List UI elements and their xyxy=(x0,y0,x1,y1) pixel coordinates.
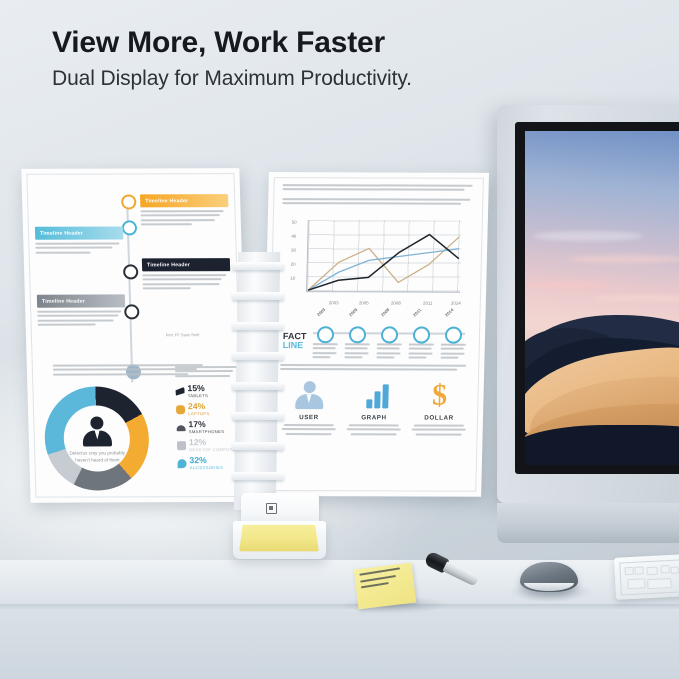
fact-line-section: FACT LINE 2003 2005 2008 xyxy=(282,314,467,371)
timeline-card-1: Timeline Header xyxy=(35,226,124,255)
fact-line-caption xyxy=(312,343,338,361)
headline-title: View More, Work Faster xyxy=(52,26,572,60)
document-page-right: 50 40 30 20 10 2003 2005 2008 2011 2014 xyxy=(261,172,489,497)
stat-label: SMARTPHONES xyxy=(189,429,225,435)
stat-value: 15% xyxy=(187,384,208,393)
graph-icon xyxy=(359,380,390,410)
stat-row: 17% SMARTPHONES xyxy=(176,420,242,434)
feature-trio: USER GRAPH xyxy=(280,380,470,381)
fact-line-node xyxy=(349,326,366,343)
y-tick: 40 xyxy=(291,234,296,239)
stat-label: ACCESSORIES xyxy=(190,465,224,471)
donut-center-caption: Delectus cray you probably haven't heard… xyxy=(64,451,130,465)
computer-keyboard xyxy=(614,554,679,600)
stand-fin xyxy=(232,352,284,360)
y-tick: 10 xyxy=(290,276,295,281)
fact-line-caption xyxy=(344,343,370,361)
fact-line-node xyxy=(445,327,462,344)
feature-name: DOLLAR xyxy=(409,414,469,421)
donut-side-paragraph xyxy=(175,366,237,379)
stand-fin xyxy=(232,382,284,390)
logo-mark-icon xyxy=(266,503,277,514)
fact-line-footer-paragraph xyxy=(280,364,468,373)
stat-value: 24% xyxy=(188,402,210,411)
feature-body xyxy=(409,424,469,435)
sticky-note-pad xyxy=(239,525,319,551)
stand-fin xyxy=(232,292,284,300)
brand-logo xyxy=(266,502,312,514)
fact-line-title-bottom: LINE xyxy=(283,340,304,350)
stand-fin xyxy=(232,442,284,450)
x-tick: 2014 xyxy=(451,301,461,306)
cloud xyxy=(567,255,679,263)
fact-line-caption xyxy=(408,344,434,362)
y-tick: 30 xyxy=(291,248,296,253)
stand-fin xyxy=(232,472,284,480)
dollar-icon: $ xyxy=(424,381,455,411)
stat-value: 17% xyxy=(188,420,224,429)
headline-block: View More, Work Faster Dual Display for … xyxy=(52,26,572,91)
x-tick: 2011 xyxy=(423,301,433,306)
timeline-card-header: Timeline Header xyxy=(35,226,123,239)
timeline-card-header: Timeline Header xyxy=(142,258,230,271)
timeline-card-3: Timeline Header xyxy=(37,294,126,328)
stat-label: TABLETS xyxy=(188,393,209,399)
document-page-left: Timeline Header Timeline Header Timeline… xyxy=(21,168,248,503)
timeline-card-2: Timeline Header xyxy=(140,194,229,228)
feature-body xyxy=(344,424,404,435)
x-tick: 2005 xyxy=(359,300,369,305)
feature-user: USER xyxy=(279,380,340,435)
monitor-bezel xyxy=(515,122,679,474)
feature-dollar: $ DOLLAR xyxy=(409,380,470,435)
laptop-icon xyxy=(176,405,185,414)
monitor-chin xyxy=(497,503,679,543)
timeline-card-body xyxy=(37,310,125,325)
feature-name: USER xyxy=(279,414,339,421)
keyboard-frame xyxy=(619,559,679,595)
feature-name: GRAPH xyxy=(344,414,404,421)
fact-line-node xyxy=(413,327,430,344)
stand-fin xyxy=(232,412,284,420)
timeline-card-body xyxy=(142,274,230,289)
timeline-node xyxy=(121,194,136,209)
user-icon xyxy=(294,380,325,410)
cloud xyxy=(525,281,611,288)
handwritten-sticky-note xyxy=(354,563,416,610)
timeline-node xyxy=(123,264,138,279)
fact-line-node xyxy=(317,326,334,343)
font-note: font: FF Sans Serif xyxy=(166,332,200,337)
fact-line-caption xyxy=(376,343,402,361)
desk-front-panel xyxy=(0,611,679,679)
timeline-node xyxy=(122,220,137,235)
timeline-card-body xyxy=(140,210,228,225)
y-tick: 50 xyxy=(292,220,297,225)
document-stand-base xyxy=(233,493,326,565)
smartphone-icon xyxy=(176,425,185,431)
product-marketing-image: View More, Work Faster Dual Display for … xyxy=(0,0,679,679)
headline-subtitle: Dual Display for Maximum Productivity. xyxy=(52,67,572,91)
donut-chart: Delectus cray you probably haven't heard… xyxy=(43,386,150,490)
chart-series-lines xyxy=(306,220,464,293)
series-black-line xyxy=(308,234,459,291)
timeline-card-body xyxy=(35,242,123,253)
intro-paragraph-2 xyxy=(282,198,474,207)
feature-graph: GRAPH xyxy=(344,380,405,435)
stat-value: 32% xyxy=(189,456,223,465)
line-chart: 50 40 30 20 10 2003 2005 2008 2011 2014 xyxy=(290,218,464,307)
y-tick: 20 xyxy=(291,262,296,267)
person-icon xyxy=(82,416,111,446)
accessories-icon xyxy=(177,459,186,468)
desktop-icon xyxy=(177,441,186,450)
x-tick: 2003 xyxy=(329,300,339,305)
tablet-icon xyxy=(175,387,184,396)
feature-body xyxy=(279,424,339,435)
timeline-node xyxy=(124,304,139,319)
x-tick: 2008 xyxy=(391,300,401,305)
fact-line-caption xyxy=(440,344,466,362)
computer-monitor xyxy=(497,105,679,535)
monitor-screen xyxy=(525,131,679,465)
timeline-card-header: Timeline Header xyxy=(140,194,228,207)
timeline-card-4: Timeline Header xyxy=(142,258,231,292)
wallpaper-dune-shadow xyxy=(525,425,679,465)
intro-paragraph xyxy=(282,184,474,193)
timeline-card-header: Timeline Header xyxy=(37,294,125,307)
stat-label: LAPTOPS xyxy=(188,411,210,417)
fact-line-title: FACT LINE xyxy=(283,332,307,350)
stand-fin xyxy=(232,322,284,330)
fact-line-node xyxy=(381,326,398,343)
stand-fin xyxy=(232,262,284,270)
